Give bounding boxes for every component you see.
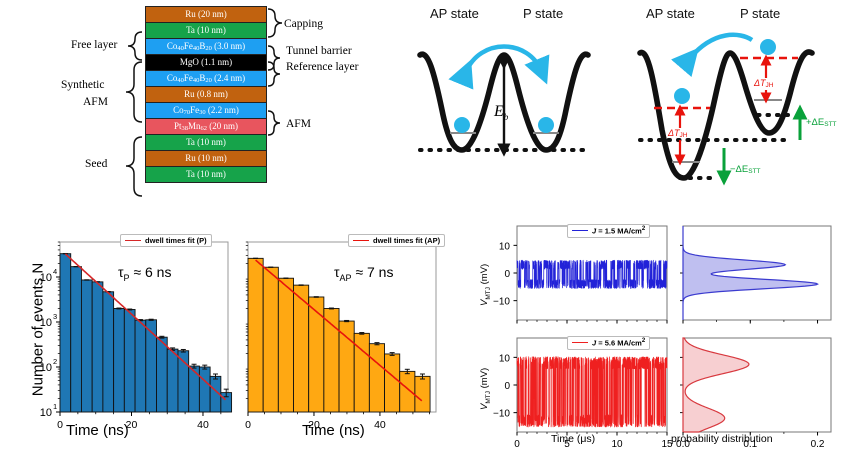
- label-capping: Capping: [284, 18, 323, 30]
- label-afm-right: AFM: [286, 118, 311, 130]
- svg-text:10: 10: [611, 439, 623, 450]
- svg-text:−10: −10: [493, 409, 510, 420]
- hist-p-legend: dwell times fit (P): [120, 234, 212, 247]
- p-state-ball: [760, 39, 776, 55]
- label-synthetic: Synthetic: [61, 79, 104, 91]
- film-stack-diagram: Ru (20 nm) Ta (10 nm) Co40Fe40B20 (3.0 n…: [0, 0, 400, 200]
- svg-text:40: 40: [374, 419, 386, 431]
- svg-text:0: 0: [57, 419, 63, 431]
- legend-label: J = 1.5 MA/cm2: [592, 226, 645, 236]
- svg-text:0: 0: [504, 381, 510, 392]
- telegraph-noise-panel: −10010−100100510150.00.10.2 VMTJ (mV) VM…: [471, 216, 848, 451]
- svg-text:0: 0: [245, 419, 251, 431]
- svg-text:−10: −10: [493, 297, 510, 308]
- minus-delta-e-stt-label: −ΔESTT: [730, 164, 761, 175]
- svg-text:3: 3: [53, 312, 57, 321]
- svg-text:4: 4: [53, 267, 57, 276]
- label-tunnel-barrier: Tunnel barrier: [286, 45, 352, 57]
- label-reference-layer: Reference layer: [286, 61, 358, 73]
- trace-red-ylabel: VMTJ (mV): [479, 368, 492, 410]
- p-state-ball: [538, 117, 554, 133]
- plus-delta-e-stt-label: +ΔESTT: [806, 117, 837, 128]
- legend-label: dwell times fit (AP): [373, 236, 440, 245]
- stack-annotation-braces: [0, 0, 400, 200]
- hist-ap-svg: 02040: [236, 216, 471, 451]
- trace-blue-ylabel: VMTJ (mV): [479, 264, 492, 306]
- delta-t-jh-ap-label: ΔTJH: [668, 128, 688, 139]
- dwell-time-histogram-ap: 02040 dwell times fit (AP) τAP ≈ 7 ns Ti…: [236, 216, 471, 451]
- hist-p-ylabel: Number of events N: [30, 235, 47, 425]
- energy-barrier-symbol: Eb: [494, 103, 508, 122]
- hist-p-xlabel: Time (ns): [66, 422, 129, 439]
- ap-state-ball: [454, 117, 470, 133]
- traces-svg: −10010−100100510150.00.10.2: [471, 216, 848, 451]
- svg-text:0: 0: [514, 439, 520, 450]
- svg-text:10: 10: [499, 353, 511, 364]
- hist-ap-legend: dwell times fit (AP): [348, 234, 445, 247]
- energy-curve-equilibrium: [390, 0, 618, 200]
- legend-line-swatch: [572, 230, 588, 231]
- ap-state-ball: [674, 88, 690, 104]
- trace-red-legend: J = 5.6 MA/cm2: [567, 336, 650, 350]
- legend-label: dwell times fit (P): [145, 236, 207, 245]
- energy-landscape-equilibrium: AP state P state Eb: [390, 0, 618, 200]
- label-free-layer: Free layer: [71, 39, 117, 51]
- label-synthetic-afm: AFM: [83, 96, 108, 108]
- tau-p-annotation: τP ≈ 6 ns: [118, 264, 171, 283]
- trace-xlabel: Time (μs): [551, 433, 595, 445]
- svg-text:40: 40: [197, 419, 209, 431]
- dwell-time-histogram-p: 02040101102103104 dwell times fit (P) τP…: [0, 216, 236, 451]
- hist-ap-xlabel: Time (ns): [302, 422, 365, 439]
- energy-landscape-biased: AP state P state: [620, 0, 848, 200]
- legend-line-swatch: [572, 342, 588, 343]
- svg-text:10: 10: [499, 241, 511, 252]
- legend-line-swatch: [125, 240, 141, 241]
- trace-blue-legend: J = 1.5 MA/cm2: [567, 224, 650, 238]
- svg-text:0.2: 0.2: [811, 439, 825, 450]
- legend-line-swatch: [353, 240, 369, 241]
- svg-text:2: 2: [53, 357, 57, 366]
- legend-label: J = 5.6 MA/cm2: [592, 338, 645, 348]
- label-seed: Seed: [85, 158, 107, 170]
- svg-text:1: 1: [53, 402, 57, 411]
- tau-ap-annotation: τAP ≈ 7 ns: [334, 264, 393, 283]
- delta-t-jh-p-label: ΔTJH: [754, 78, 774, 89]
- pdf-xlabel: probability distribution: [671, 433, 773, 445]
- svg-text:0: 0: [504, 269, 510, 280]
